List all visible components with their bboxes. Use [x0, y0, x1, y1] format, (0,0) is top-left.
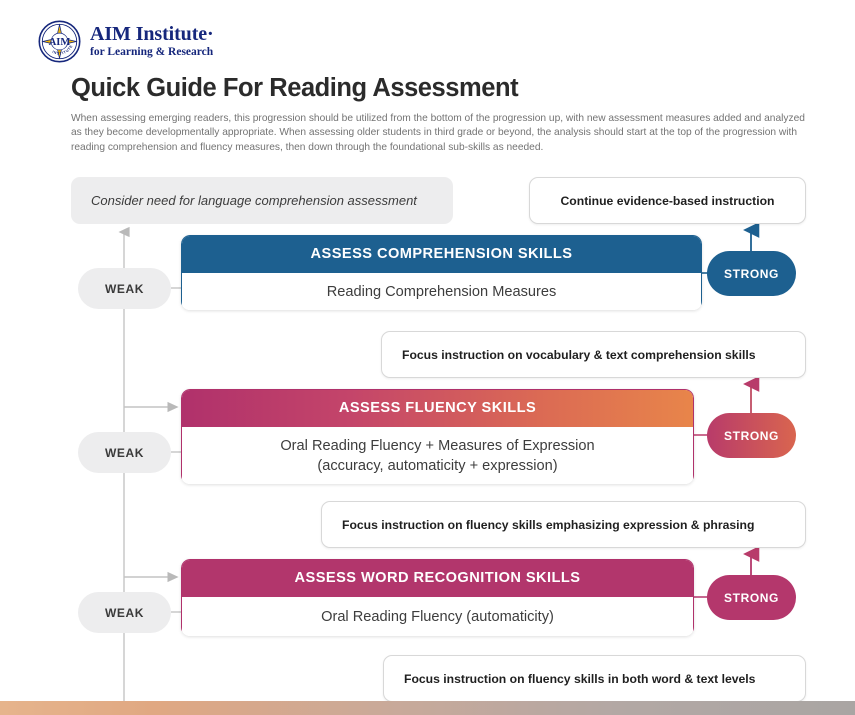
pill-weak-fluency: WEAK [78, 432, 171, 473]
footer-accent-strip [0, 701, 855, 715]
card-body-text: Reading Comprehension Measures [182, 273, 701, 310]
card-assess-word-recognition: ASSESS WORD RECOGNITION SKILLS Oral Read… [181, 559, 694, 636]
card-assess-comprehension: ASSESS COMPREHENSION SKILLS Reading Comp… [181, 235, 702, 310]
pill-strong-word-recognition: STRONG [707, 575, 796, 620]
card-assess-fluency: ASSESS FLUENCY SKILLS Oral Reading Fluen… [181, 389, 694, 484]
card-body-line1: Oral Reading Fluency + Measures of Expre… [280, 437, 594, 456]
pill-weak-comprehension: WEAK [78, 268, 171, 309]
assessment-flow-diagram: Consider need for language comprehension… [0, 0, 855, 715]
page-root: AIM INSTITUTE AIM Institute· for Learnin… [0, 0, 855, 715]
card-body-text: Oral Reading Fluency + Measures of Expre… [182, 427, 693, 484]
card-body-line2: (accuracy, automaticity + expression) [280, 457, 594, 476]
note-focus-fluency-expression: Focus instruction on fluency skills emph… [321, 501, 806, 548]
pill-strong-comprehension: STRONG [707, 251, 796, 296]
note-focus-word-text-levels: Focus instruction on fluency skills in b… [383, 655, 806, 702]
card-heading: ASSESS COMPREHENSION SKILLS [182, 236, 701, 273]
pill-weak-word-recognition: WEAK [78, 592, 171, 633]
pill-strong-fluency: STRONG [707, 413, 796, 458]
card-heading: ASSESS FLUENCY SKILLS [182, 390, 693, 427]
note-continue-instruction: Continue evidence-based instruction [529, 177, 806, 224]
card-body-text: Oral Reading Fluency (automaticity) [182, 597, 693, 636]
note-focus-vocabulary: Focus instruction on vocabulary & text c… [381, 331, 806, 378]
note-language-comprehension: Consider need for language comprehension… [71, 177, 453, 224]
card-heading: ASSESS WORD RECOGNITION SKILLS [182, 560, 693, 597]
